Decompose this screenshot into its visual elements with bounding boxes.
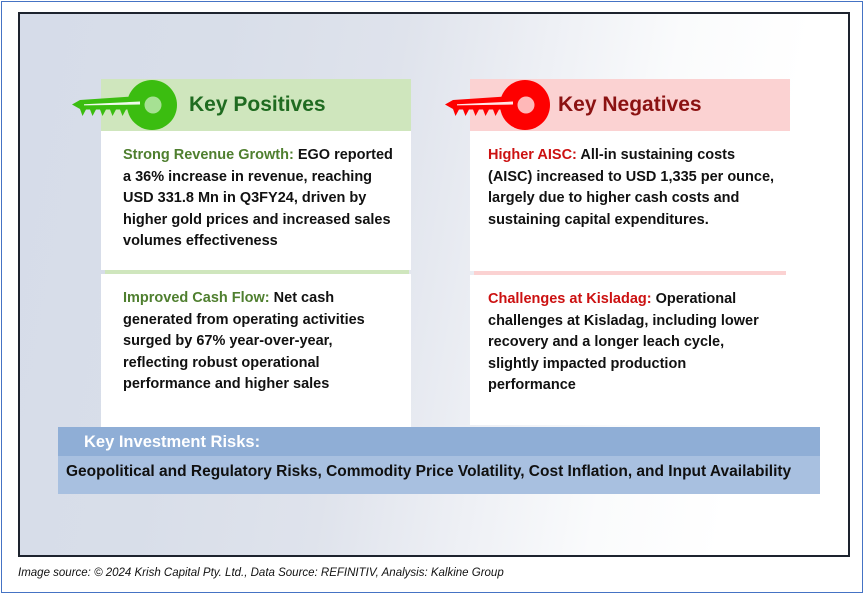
positive-item-2-lead: Improved Cash Flow: <box>123 290 270 306</box>
key-negatives-title: Key Negatives <box>558 93 702 117</box>
slide-content-area: Key Positives Strong Revenue Growth: EGO… <box>18 12 850 557</box>
key-icon <box>443 79 553 131</box>
negative-item-2: Challenges at Kisladag: Operational chal… <box>470 275 790 425</box>
key-investment-risks-title-strip: Key Investment Risks: <box>58 427 820 456</box>
negative-item-1: Higher AISC: All-in sustaining costs (AI… <box>470 131 790 271</box>
negative-item-2-lead: Challenges at Kisladag: <box>488 291 652 307</box>
key-positives-header: Key Positives <box>101 79 411 131</box>
positive-item-2: Improved Cash Flow: Net cash generated f… <box>101 274 411 430</box>
key-investment-risks-body: Geopolitical and Regulatory Risks, Commo… <box>58 456 820 494</box>
key-positives-title: Key Positives <box>189 93 326 117</box>
negative-item-1-lead: Higher AISC: <box>488 147 577 163</box>
image-source-footer: Image source: © 2024 Krish Capital Pty. … <box>18 567 850 579</box>
key-icon <box>70 79 180 131</box>
positive-item-1: Strong Revenue Growth: EGO reported a 36… <box>101 131 411 270</box>
positive-item-1-text: Strong Revenue Growth: EGO reported a 36… <box>123 145 395 253</box>
key-investment-risks-banner: Key Investment Risks: Geopolitical and R… <box>58 427 820 494</box>
positive-item-2-text: Improved Cash Flow: Net cash generated f… <box>123 288 395 396</box>
key-negatives-header: Key Negatives <box>470 79 790 131</box>
negative-item-1-text: Higher AISC: All-in sustaining costs (AI… <box>488 145 778 231</box>
key-negatives-column: Key Negatives Higher AISC: All-in sustai… <box>470 79 790 425</box>
key-positives-column: Key Positives Strong Revenue Growth: EGO… <box>101 79 411 430</box>
negative-item-2-text: Challenges at Kisladag: Operational chal… <box>488 289 778 397</box>
positive-item-1-lead: Strong Revenue Growth: <box>123 147 294 163</box>
key-investment-risks-title: Key Investment Risks: <box>84 433 260 451</box>
slide-frame: Key Positives Strong Revenue Growth: EGO… <box>1 1 863 593</box>
